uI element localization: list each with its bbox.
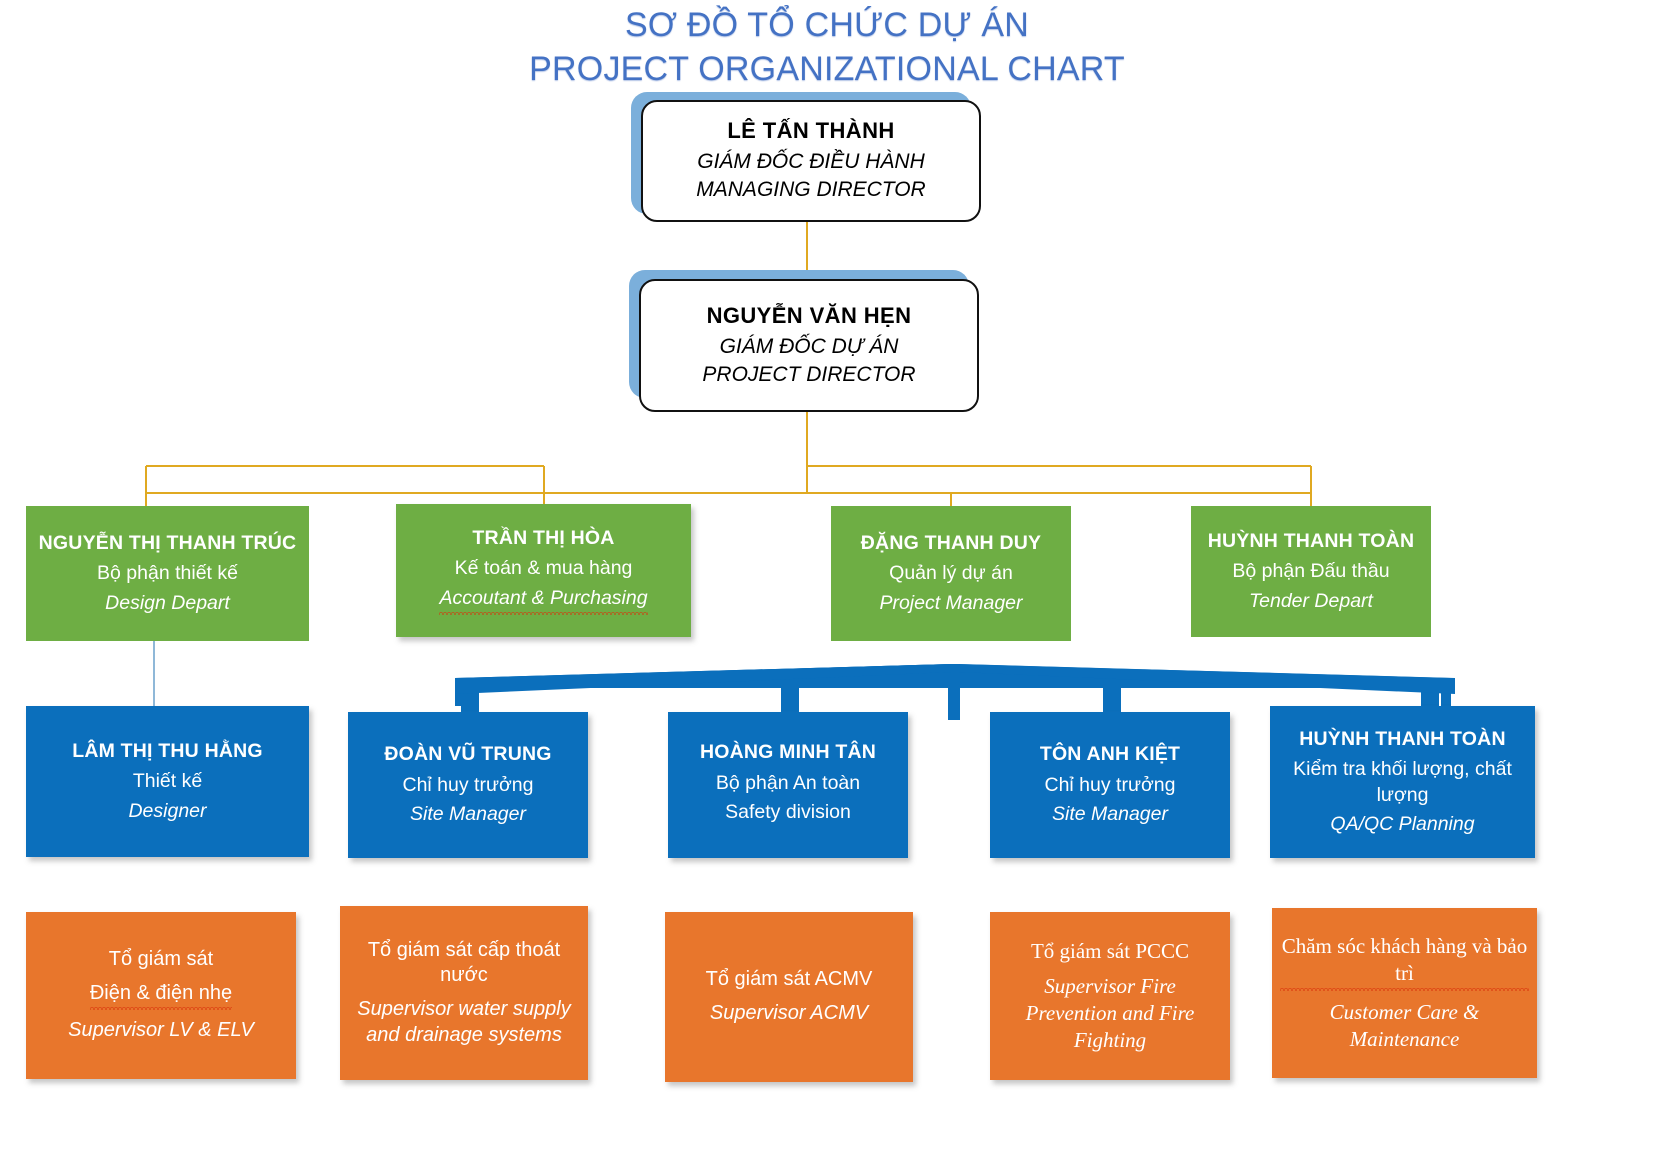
design-department-name: NGUYỄN THỊ THANH TRÚC — [39, 531, 297, 555]
site-manager-1-role-en: Site Manager — [410, 802, 526, 827]
supervisor-lv-elv-role-vi-b: Điện & điện nhẹ — [90, 981, 232, 1011]
node-project-director[interactable]: NGUYỄN VĂN HẸN GIÁM ĐỐC DỰ ÁN PROJECT DI… — [639, 279, 979, 412]
node-tender-department[interactable]: HUỲNH THANH TOÀN Bộ phận Đấu thầu Tender… — [1191, 506, 1431, 637]
qa-qc-planning-role-vi: Kiểm tra khối lượng, chất lượng — [1278, 757, 1527, 808]
node-managing-director[interactable]: LÊ TẤN THÀNH GIÁM ĐỐC ĐIỀU HÀNH MANAGING… — [641, 100, 981, 222]
qa-qc-planning-role-en: QA/QC Planning — [1330, 812, 1474, 837]
project-director-role-en: PROJECT DIRECTOR — [702, 361, 915, 389]
node-site-manager-1[interactable]: ĐOÀN VŨ TRUNG Chỉ huy trưởng Site Manage… — [348, 712, 588, 858]
supervisor-fire-role-vi: Tổ giám sát PCCC — [1031, 938, 1189, 965]
safety-division-name: HOÀNG MINH TÂN — [700, 740, 876, 764]
project-management-role-en: Project Manager — [879, 591, 1022, 616]
design-department-role-en: Design Depart — [105, 591, 230, 616]
project-management-role-vi: Quản lý dự án — [889, 561, 1013, 586]
site-manager-2-role-vi: Chỉ huy trưởng — [1045, 773, 1176, 798]
tender-department-name: HUỲNH THANH TOÀN — [1208, 529, 1415, 553]
design-department-role-vi: Bộ phận thiết kế — [97, 561, 238, 586]
designer-name: LÂM THỊ THU HẰNG — [72, 739, 263, 763]
accounting-purchasing-role-en: Accoutant & Purchasing — [439, 586, 647, 615]
project-director-role-vi: GIÁM ĐỐC DỰ ÁN — [720, 333, 899, 361]
managing-director-role-vi: GIÁM ĐỐC ĐIỀU HÀNH — [697, 148, 925, 176]
project-director-name: NGUYỄN VĂN HẸN — [707, 303, 912, 329]
org-chart-canvas: SƠ ĐỒ TỔ CHỨC DỰ ÁN PROJECT ORGANIZATION… — [0, 0, 1654, 1167]
node-qa-qc-planning[interactable]: HUỲNH THANH TOÀN Kiểm tra khối lượng, ch… — [1270, 706, 1535, 858]
site-manager-2-role-en: Site Manager — [1052, 802, 1168, 827]
tender-department-role-vi: Bộ phận Đấu thầu — [1232, 559, 1389, 584]
node-designer[interactable]: LÂM THỊ THU HẰNG Thiết kế Designer — [26, 706, 309, 857]
supervisor-lv-elv-role-vi-a: Tổ giám sát — [109, 947, 213, 973]
page-title: SƠ ĐỒ TỔ CHỨC DỰ ÁN PROJECT ORGANIZATION… — [0, 4, 1654, 91]
node-site-manager-2[interactable]: TÔN ANH KIỆT Chỉ huy trưởng Site Manager — [990, 712, 1230, 858]
node-safety-division[interactable]: HOÀNG MINH TÂN Bộ phận An toàn Safety di… — [668, 712, 908, 858]
node-supervisor-lv-elv[interactable]: Tổ giám sát Điện & điện nhẹ Supervisor L… — [26, 912, 296, 1079]
supervisor-acmv-role-en: Supervisor ACMV — [710, 1001, 868, 1027]
site-manager-1-role-vi: Chỉ huy trưởng — [403, 773, 534, 798]
node-customer-care[interactable]: Chăm sóc khách hàng và bảo trì Customer … — [1272, 908, 1537, 1078]
safety-division-role-vi: Bộ phận An toàn — [716, 771, 860, 796]
project-management-name: ĐẶNG THANH DUY — [861, 531, 1041, 555]
page-title-english: PROJECT ORGANIZATIONAL CHART — [0, 48, 1654, 92]
customer-care-role-en: Customer Care & Maintenance — [1280, 999, 1529, 1053]
customer-care-role-vi: Chăm sóc khách hàng và bảo trì — [1280, 933, 1529, 991]
node-supervisor-fire[interactable]: Tổ giám sát PCCC Supervisor Fire Prevent… — [990, 912, 1230, 1080]
accounting-purchasing-name: TRẦN THỊ HÒA — [472, 526, 614, 550]
managing-director-name: LÊ TẤN THÀNH — [727, 118, 894, 144]
accounting-purchasing-role-vi: Kế toán & mua hàng — [455, 556, 633, 581]
supervisor-water-role-vi: Tổ giám sát cấp thoát nước — [348, 938, 580, 989]
designer-role-en: Designer — [128, 799, 206, 824]
supervisor-water-role-en: Supervisor water supply and drainage sys… — [348, 997, 580, 1048]
node-supervisor-acmv[interactable]: Tổ giám sát ACMV Supervisor ACMV — [665, 912, 913, 1082]
managing-director-role-en: MANAGING DIRECTOR — [696, 176, 925, 204]
node-accounting-purchasing[interactable]: TRẦN THỊ HÒA Kế toán & mua hàng Accoutan… — [396, 504, 691, 637]
node-design-department[interactable]: NGUYỄN THỊ THANH TRÚC Bộ phận thiết kế D… — [26, 506, 309, 641]
designer-role-vi: Thiết kế — [133, 769, 202, 794]
supervisor-fire-role-en: Supervisor Fire Prevention and Fire Figh… — [998, 973, 1222, 1054]
tender-department-role-en: Tender Depart — [1249, 589, 1373, 614]
page-title-vietnamese: SƠ ĐỒ TỔ CHỨC DỰ ÁN — [0, 4, 1654, 48]
safety-division-role-en: Safety division — [725, 800, 851, 825]
qa-qc-planning-name: HUỲNH THANH TOÀN — [1299, 727, 1506, 751]
node-project-management[interactable]: ĐẶNG THANH DUY Quản lý dự án Project Man… — [831, 506, 1071, 641]
node-supervisor-water[interactable]: Tổ giám sát cấp thoát nước Supervisor wa… — [340, 906, 588, 1080]
supervisor-lv-elv-role-en: Supervisor LV & ELV — [68, 1018, 254, 1044]
supervisor-acmv-role-vi: Tổ giám sát ACMV — [706, 967, 873, 993]
site-manager-1-name: ĐOÀN VŨ TRUNG — [384, 742, 551, 766]
site-manager-2-name: TÔN ANH KIỆT — [1040, 742, 1180, 766]
